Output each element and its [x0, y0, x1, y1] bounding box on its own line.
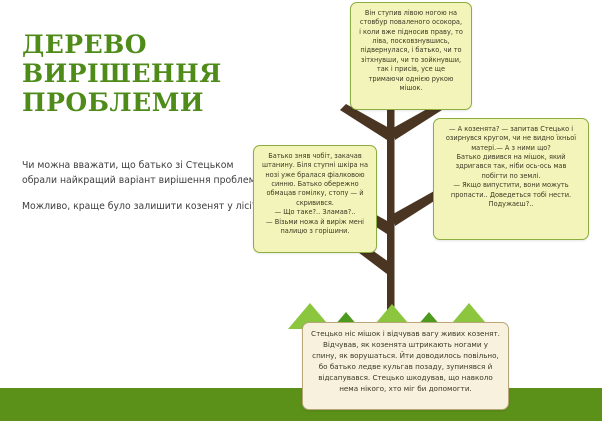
note-bottom[interactable]: Стецько ніс мішок і відчував вагу живих … — [302, 322, 509, 410]
intro-question-2: Можливо, краще було залишити козенят у л… — [22, 200, 267, 215]
note-right[interactable]: — А козенята? — запитав Стецько і озирну… — [433, 118, 589, 240]
left-panel: ДЕРЕВО ВИРІШЕННЯ ПРОБЛЕМИ Чи можна вважа… — [22, 30, 267, 227]
note-left[interactable]: Батько зняв чобіт, закачав штанину. Біля… — [253, 145, 377, 253]
page-title: ДЕРЕВО ВИРІШЕННЯ ПРОБЛЕМИ — [22, 30, 267, 117]
intro-block: Чи можна вважати, що батько зі Стецьком … — [22, 159, 267, 215]
note-top[interactable]: Він ступив лівою ногою на стовбур повале… — [350, 2, 472, 110]
ground-bar — [0, 388, 602, 421]
intro-question-1: Чи можна вважати, що батько зі Стецьком … — [22, 159, 267, 188]
slide-canvas: ДЕРЕВО ВИРІШЕННЯ ПРОБЛЕМИ Чи можна вважа… — [0, 0, 602, 421]
